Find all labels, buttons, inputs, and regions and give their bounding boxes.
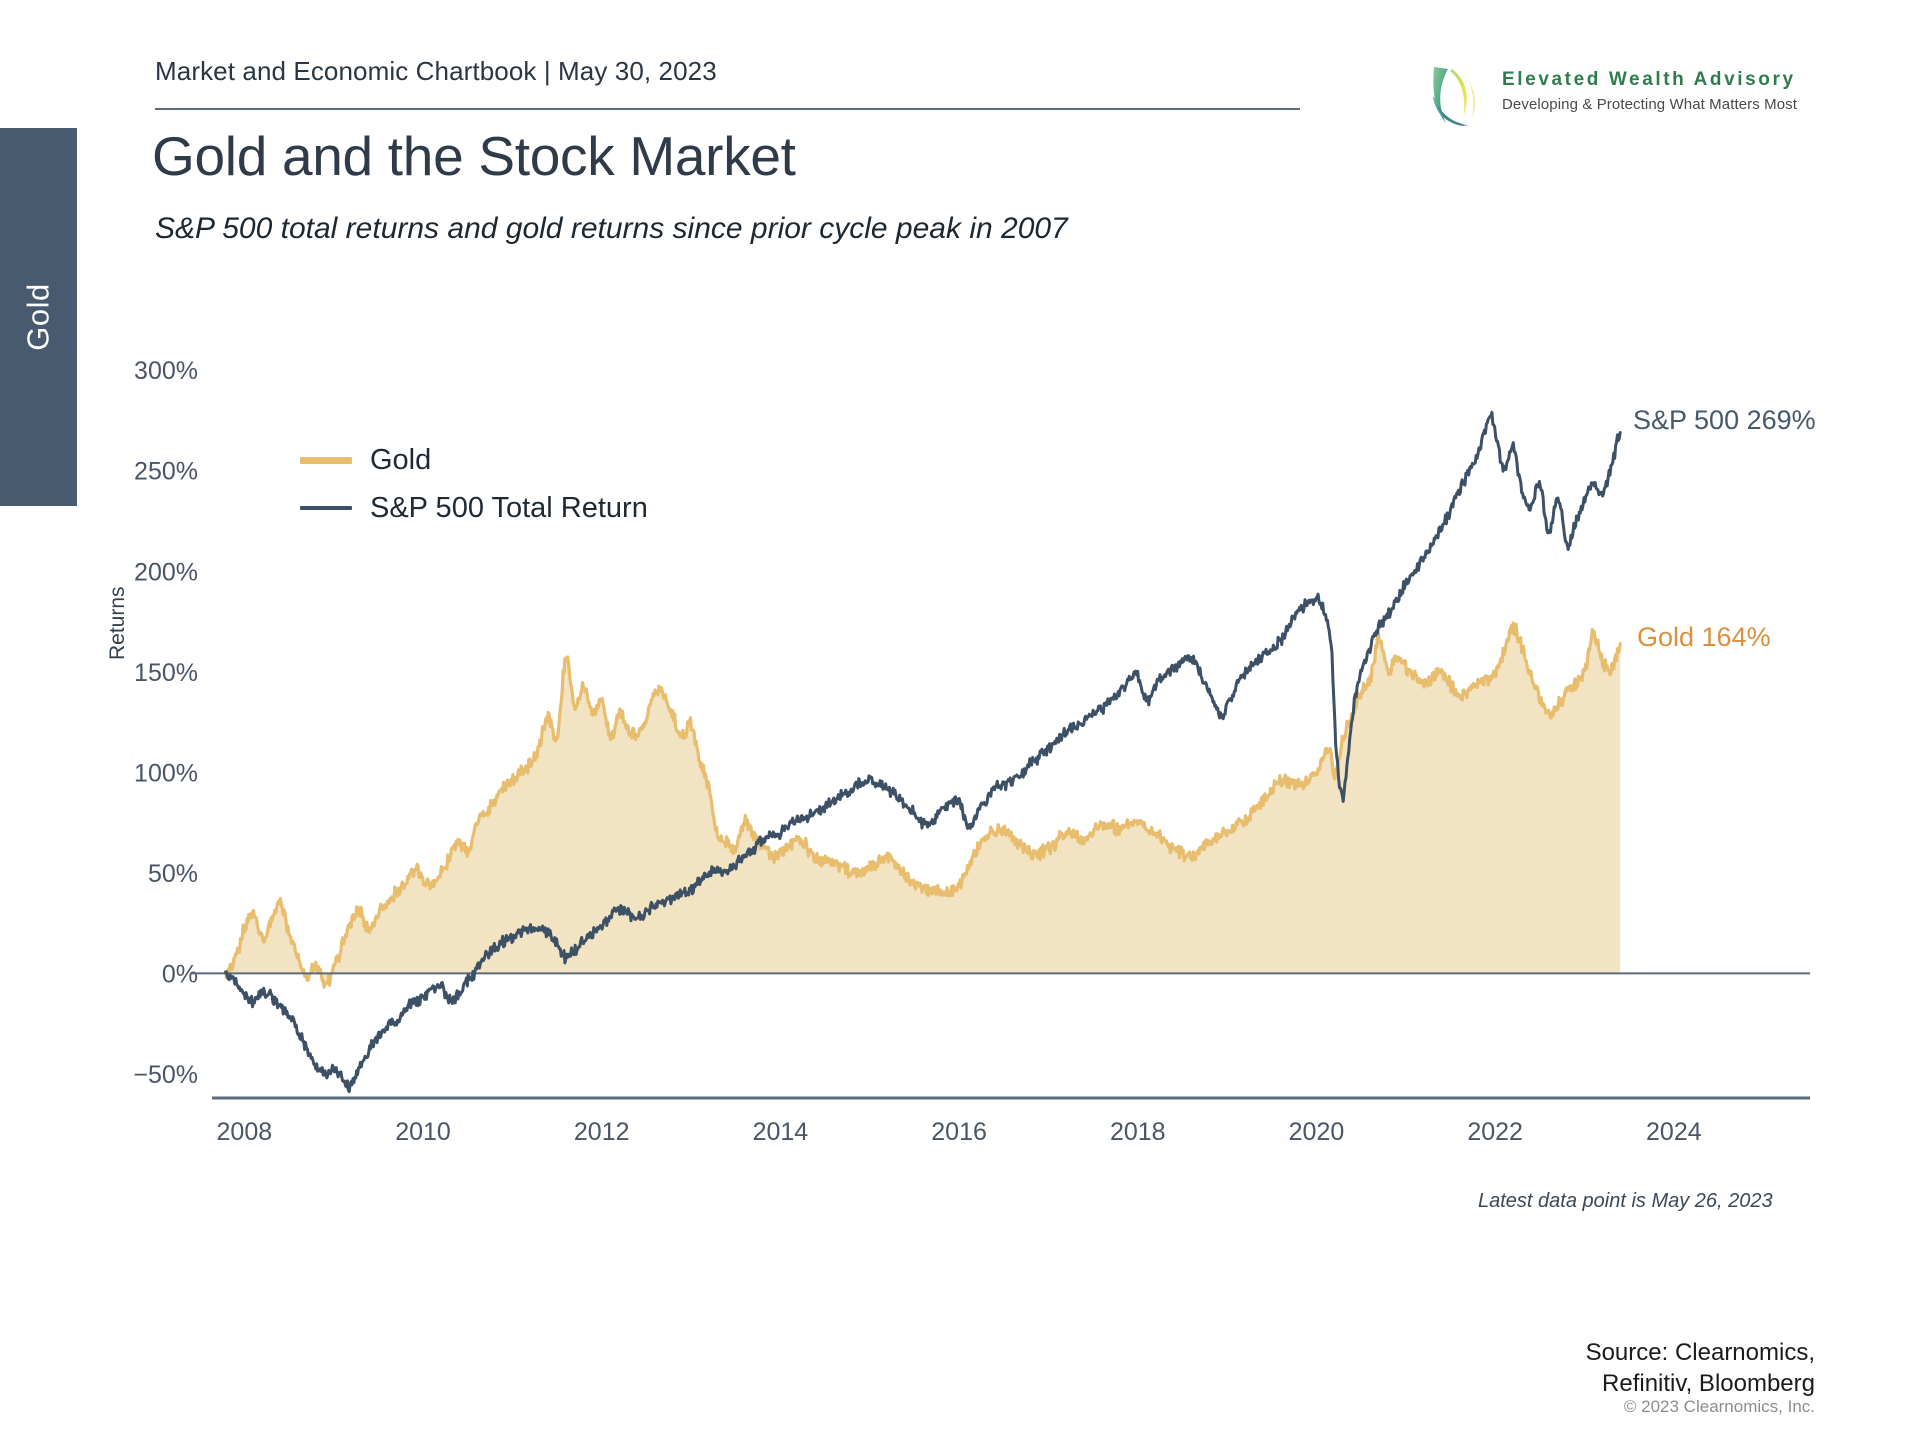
- svg-text:2024: 2024: [1646, 1118, 1702, 1146]
- svg-text:50%: 50%: [148, 860, 198, 888]
- svg-text:200%: 200%: [134, 558, 198, 586]
- svg-text:100%: 100%: [134, 759, 198, 787]
- svg-text:2022: 2022: [1467, 1118, 1523, 1146]
- svg-text:2008: 2008: [217, 1118, 273, 1146]
- svg-text:250%: 250%: [134, 458, 198, 486]
- legend-label-gold: Gold: [370, 444, 431, 477]
- chart-legend: Gold S&P 500 Total Return: [300, 436, 648, 532]
- svg-text:2016: 2016: [931, 1118, 987, 1146]
- source-line-1: Source: Clearnomics,: [1586, 1337, 1815, 1368]
- svg-text:2018: 2018: [1110, 1118, 1166, 1146]
- latest-data-note: Latest data point is May 26, 2023: [1478, 1190, 1773, 1213]
- copyright-notice: © 2023 Clearnomics, Inc.: [1624, 1397, 1815, 1417]
- svg-text:2012: 2012: [574, 1118, 630, 1146]
- legend-swatch-gold: [300, 457, 352, 464]
- svg-text:−50%: −50%: [133, 1061, 198, 1089]
- source-line-2: Refinitiv, Bloomberg: [1586, 1368, 1815, 1399]
- legend-swatch-sp500: [300, 506, 352, 510]
- legend-label-sp500: S&P 500 Total Return: [370, 492, 648, 525]
- svg-text:300%: 300%: [134, 357, 198, 385]
- svg-text:2010: 2010: [395, 1118, 451, 1146]
- svg-text:2014: 2014: [753, 1118, 809, 1146]
- chart-container: −50%0%50%100%150%200%250%300%20082010201…: [0, 0, 1920, 1440]
- source-attribution: Source: Clearnomics, Refinitiv, Bloomber…: [1586, 1337, 1815, 1399]
- returns-chart-svg: −50%0%50%100%150%200%250%300%20082010201…: [0, 0, 1920, 1440]
- svg-text:2020: 2020: [1289, 1118, 1345, 1146]
- annotation-gold-end: Gold 164%: [1637, 622, 1771, 653]
- svg-text:150%: 150%: [134, 659, 198, 687]
- y-axis-title: Returns: [106, 586, 130, 660]
- legend-item-gold[interactable]: Gold: [300, 436, 648, 484]
- legend-item-sp500[interactable]: S&P 500 Total Return: [300, 484, 648, 532]
- annotation-sp500-end: S&P 500 269%: [1633, 405, 1816, 436]
